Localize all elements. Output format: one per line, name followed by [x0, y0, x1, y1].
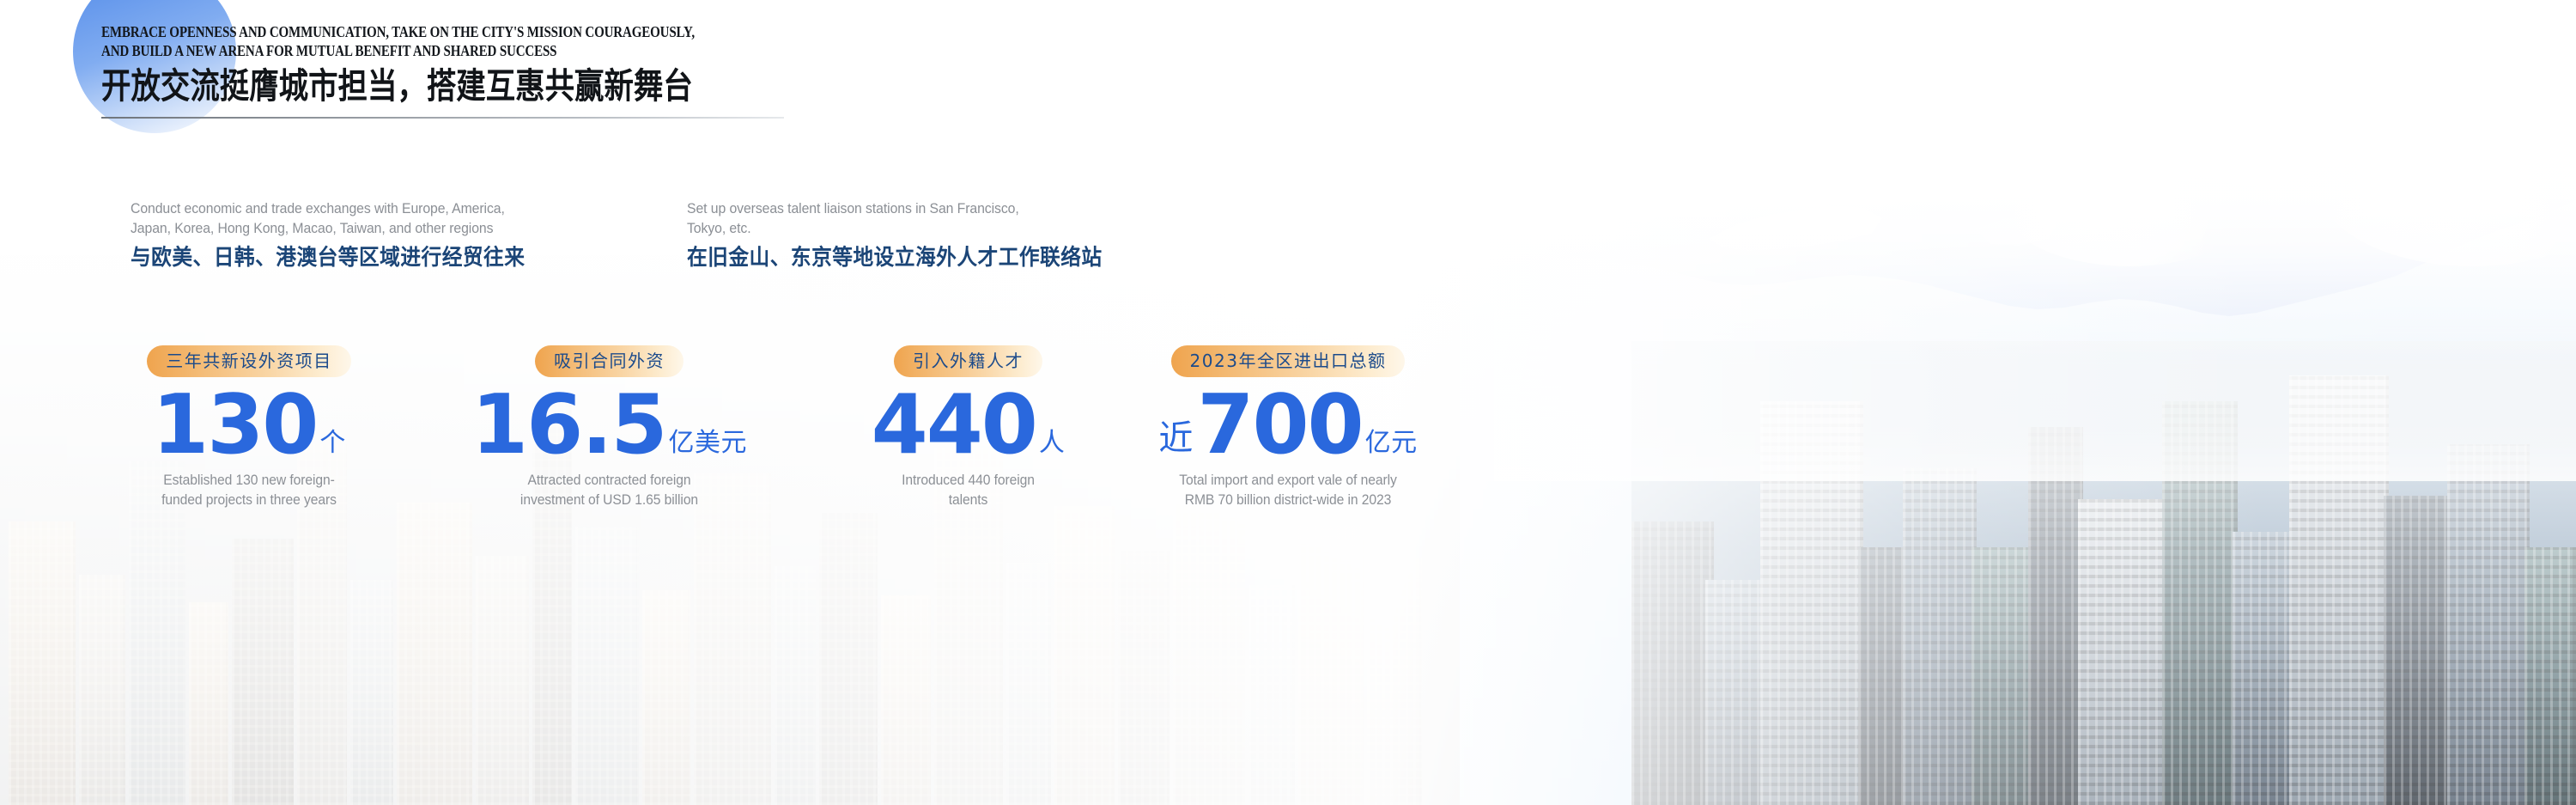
subtitle-block-trade: Conduct economic and trade exchanges wit…: [131, 198, 555, 271]
subtitle-english-line1: Set up overseas talent liaison stations …: [687, 198, 1103, 218]
stat-number-row: 近 700 亿元: [1116, 381, 1460, 470]
stat-caption-line1: Introduced 440 foreign: [831, 472, 1104, 490]
page-title: EMBRACE OPENNESS AND COMMUNICATION, TAKE…: [101, 22, 874, 107]
heading-english-line2: AND BUILD A NEW ARENA FOR MUTUAL BENEFIT…: [101, 41, 766, 60]
stat-number-row: 440 人: [824, 381, 1112, 470]
stat-value: 440: [872, 381, 1036, 470]
stat-card-projects: 三年共新设外资项目 130 个 Established 130 new fore…: [94, 345, 404, 509]
stat-number-row: 16.5 亿美元: [448, 381, 770, 470]
stat-unit: 个: [319, 429, 346, 458]
subtitle-chinese: 与欧美、日韩、港澳台等区域进行经贸往来: [131, 244, 525, 271]
stat-caption-line2: investment of USD 1.65 billion: [456, 491, 762, 509]
subtitle-block-talent: Set up overseas talent liaison stations …: [687, 198, 1133, 271]
stat-caption-line1: Attracted contracted foreign: [456, 472, 762, 490]
infographic-canvas: EMBRACE OPENNESS AND COMMUNICATION, TAKE…: [0, 0, 2576, 805]
stat-caption-line1: Total import and export vale of nearly: [1125, 472, 1451, 490]
stat-pill-label: 三年共新设外资项目: [147, 345, 351, 377]
stat-prefix: 近: [1158, 410, 1194, 460]
stat-card-talents: 引入外籍人才 440 人 Introduced 440 foreign tale…: [824, 345, 1112, 509]
stat-card-trade-volume: 2023年全区进出口总额 近 700 亿元 Total import and e…: [1116, 345, 1460, 509]
subtitle-english-line2: Tokyo, etc.: [687, 218, 1103, 238]
stat-caption-line1: Established 130 new foreign-: [102, 472, 396, 490]
stat-pill-label: 2023年全区进出口总额: [1171, 345, 1406, 377]
heading-chinese: 开放交流挺膺城市担当，搭建互惠共赢新舞台: [101, 65, 750, 107]
stat-value: 130: [152, 381, 317, 470]
stat-caption-line2: RMB 70 billion district-wide in 2023: [1125, 491, 1451, 509]
stat-number-row: 130 个: [94, 381, 404, 470]
stat-caption-line2: talents: [831, 491, 1104, 509]
stat-unit: 人: [1039, 429, 1066, 458]
subtitle-english-line1: Conduct economic and trade exchanges wit…: [131, 198, 525, 218]
stat-value: 16.5: [471, 381, 665, 470]
stat-pill-label: 引入外籍人才: [894, 345, 1042, 377]
subtitle-chinese: 在旧金山、东京等地设立海外人才工作联络站: [687, 244, 1103, 271]
stat-value: 700: [1197, 381, 1362, 470]
heading-english-line1: EMBRACE OPENNESS AND COMMUNICATION, TAKE…: [101, 22, 766, 41]
stat-card-investment: 吸引合同外资 16.5 亿美元 Attracted contracted for…: [448, 345, 770, 509]
stat-unit: 亿元: [1365, 429, 1418, 458]
stat-caption-line2: funded projects in three years: [102, 491, 396, 509]
stat-unit: 亿美元: [668, 429, 747, 458]
heading-divider: [101, 117, 784, 119]
stat-pill-label: 吸引合同外资: [535, 345, 683, 377]
subtitle-english-line2: Japan, Korea, Hong Kong, Macao, Taiwan, …: [131, 218, 525, 238]
